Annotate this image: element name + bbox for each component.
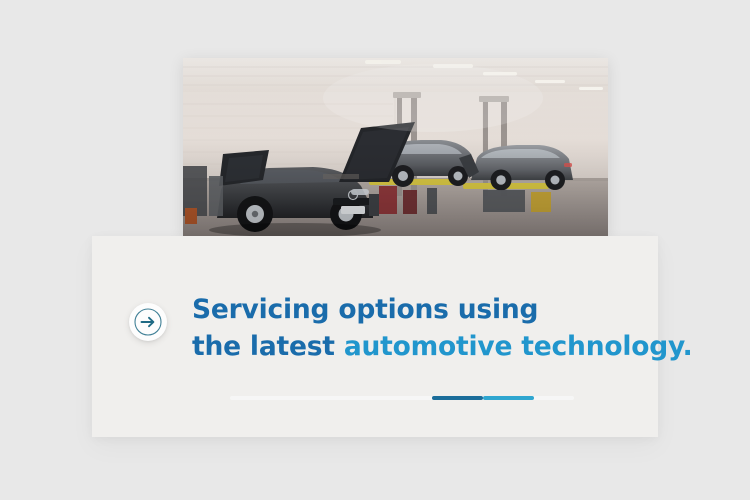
headline-line-2-accent: automotive technology. bbox=[344, 331, 693, 362]
headline-line-1: Servicing options using bbox=[192, 294, 538, 325]
progress-segment-light[interactable] bbox=[483, 396, 534, 400]
headline-block: Servicing options using the latest autom… bbox=[129, 291, 693, 365]
workshop-illustration bbox=[183, 58, 608, 237]
hero-image bbox=[183, 58, 608, 237]
headline-line-2-plain: the latest bbox=[192, 331, 344, 362]
arrow-right-glyph bbox=[133, 307, 163, 337]
progress-segment-dark[interactable] bbox=[432, 396, 483, 400]
slide-stage: Servicing options using the latest autom… bbox=[0, 0, 750, 500]
arrow-right-circle-icon[interactable] bbox=[129, 303, 167, 341]
page-title: Servicing options using the latest autom… bbox=[192, 291, 693, 365]
slide-progress-bar[interactable] bbox=[230, 396, 574, 400]
